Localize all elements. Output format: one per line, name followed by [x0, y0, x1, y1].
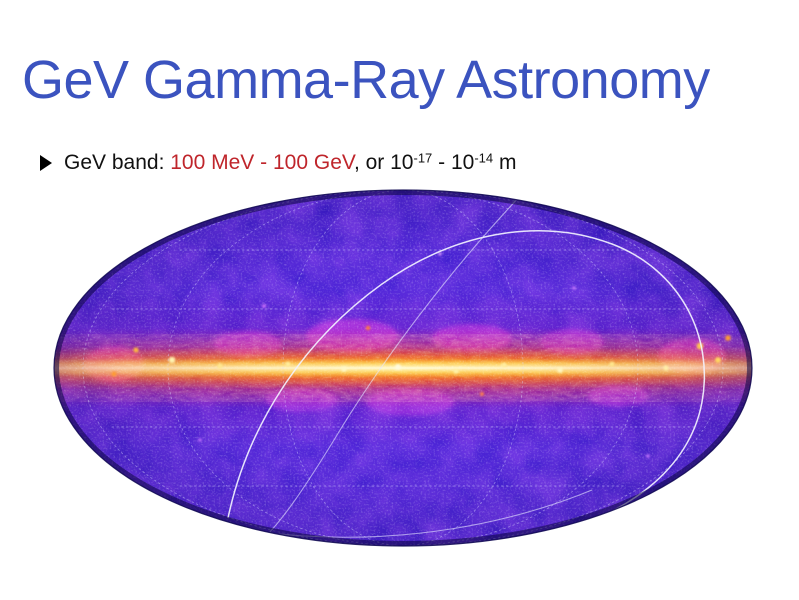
bullet-unit: m — [493, 151, 516, 174]
bullet-exponent-1: -17 — [414, 151, 433, 166]
bullet-energy-low: 100 MeV — [170, 151, 254, 174]
bullet-energy-high: 100 GeV — [273, 151, 354, 174]
bullet-or: , or 10 — [354, 151, 414, 174]
bullet-text: GeV band: 100 MeV - 100 GeV, or 10-17 - … — [64, 151, 516, 175]
all-sky-map-figure — [52, 188, 754, 548]
page-title: GeV Gamma-Ray Astronomy — [22, 46, 782, 116]
bullet-label: GeV band: — [64, 151, 170, 174]
bullet-line: GeV band: 100 MeV - 100 GeV, or 10-17 - … — [40, 146, 516, 180]
bullet-energy-dash: - — [254, 151, 273, 174]
bullet-exponent-2: -14 — [474, 151, 493, 166]
all-sky-map-image — [52, 188, 754, 548]
bullet-wavelength-dash: - 10 — [432, 151, 474, 174]
triangle-right-bullet-icon — [40, 155, 52, 171]
